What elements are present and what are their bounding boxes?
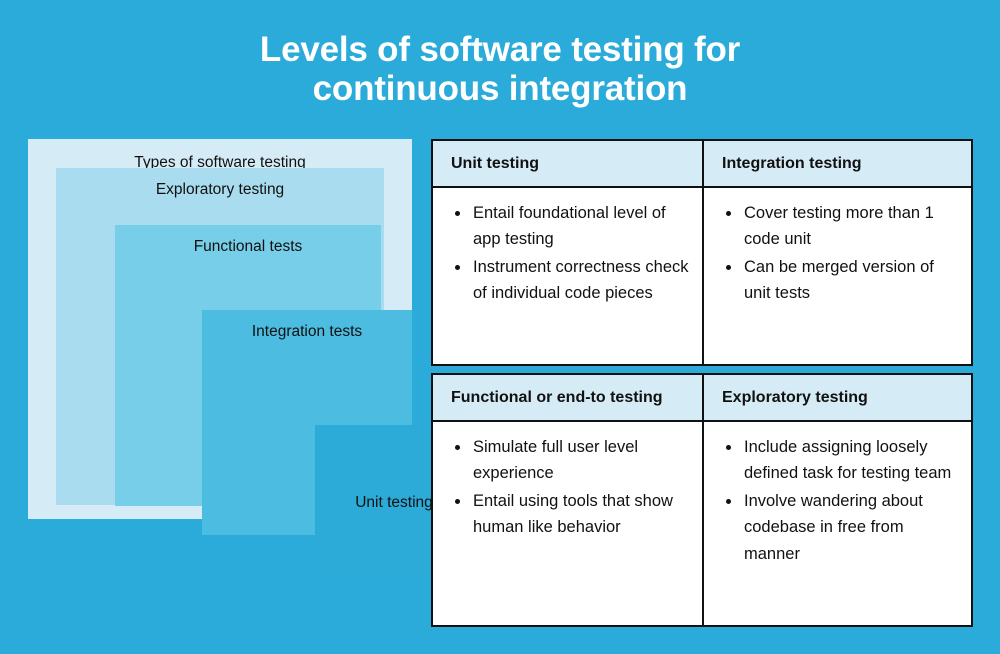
table-cell-integration-testing: Integration testing Cover testing more t…: [702, 141, 971, 364]
table-body-unit-testing: Entail foundational level of app testing…: [433, 188, 702, 364]
list-item: Entail using tools that show human like …: [471, 488, 692, 541]
table-header-functional-or-end-to-testing: Functional or end-to testing: [433, 375, 702, 422]
bullet-list: Include assigning loosely defined task f…: [720, 434, 961, 567]
page-title-line-1: Levels of software testing for: [0, 30, 1000, 69]
list-item: Instrument correctness check of individu…: [471, 254, 692, 307]
list-item: Involve wandering about codebase in free…: [742, 488, 961, 567]
list-item: Entail foundational level of app testing: [471, 200, 692, 253]
testing-levels-table: Unit testing Entail foundational level o…: [431, 139, 973, 627]
bullet-list: Entail foundational level of app testing…: [449, 200, 692, 307]
bullet-list: Simulate full user level experience Enta…: [449, 434, 692, 541]
diagram-layer-label-functional-tests: Functional tests: [115, 239, 381, 255]
diagram-layer-functional-tests: Functional tests Integration tests Unit …: [115, 225, 381, 506]
diagram-layer-label-exploratory-testing: Exploratory testing: [56, 182, 384, 198]
list-item: Cover testing more than 1 code unit: [742, 200, 961, 253]
diagram-layer-label-integration-tests: Integration tests: [202, 324, 412, 340]
table-cell-unit-testing: Unit testing Entail foundational level o…: [433, 141, 702, 364]
table-header-unit-testing: Unit testing: [433, 141, 702, 188]
table-cell-functional-or-end-to-testing: Functional or end-to testing Simulate fu…: [433, 375, 702, 625]
table-body-integration-testing: Cover testing more than 1 code unit Can …: [704, 188, 971, 364]
table-row: Functional or end-to testing Simulate fu…: [431, 373, 973, 627]
diagram-layer-exploratory-testing: Exploratory testing Functional tests Int…: [56, 168, 384, 505]
table-body-functional-or-end-to-testing: Simulate full user level experience Enta…: [433, 422, 702, 625]
table-row: Unit testing Entail foundational level o…: [431, 139, 973, 366]
nested-testing-levels-diagram: Types of software testing Exploratory te…: [28, 139, 412, 519]
bullet-list: Cover testing more than 1 code unit Can …: [720, 200, 961, 307]
table-header-exploratory-testing: Exploratory testing: [704, 375, 971, 422]
page-title: Levels of software testing for continuou…: [0, 30, 1000, 108]
list-item: Include assigning loosely defined task f…: [742, 434, 961, 487]
diagram-layer-integration-tests: Integration tests Unit testing: [202, 310, 412, 535]
list-item: Can be merged version of unit tests: [742, 254, 961, 307]
table-body-exploratory-testing: Include assigning loosely defined task f…: [704, 422, 971, 625]
page-title-line-2: continuous integration: [0, 69, 1000, 108]
table-header-integration-testing: Integration testing: [704, 141, 971, 188]
list-item: Simulate full user level experience: [471, 434, 692, 487]
table-cell-exploratory-testing: Exploratory testing Include assigning lo…: [702, 375, 971, 625]
